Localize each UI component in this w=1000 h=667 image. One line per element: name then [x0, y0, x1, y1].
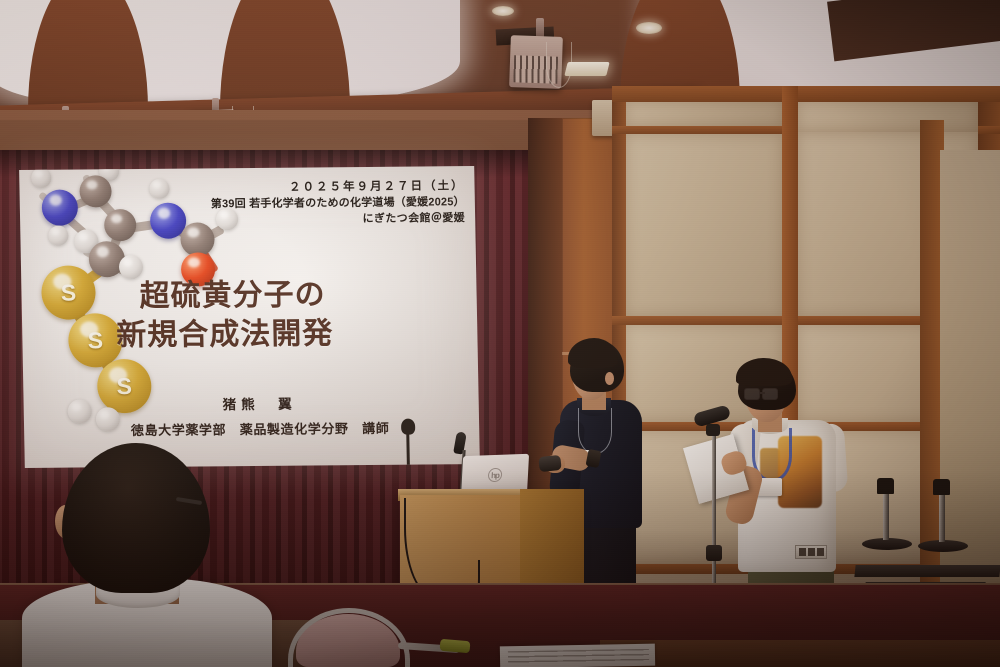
slide-date: ２０２５年９月２７日（土）: [210, 178, 464, 197]
ceiling-arch-rib: [28, 0, 148, 110]
slide-speaker-name: 猪熊 翼: [109, 392, 409, 415]
chair-green-accessory: [440, 639, 471, 654]
atom-hydrogen: [31, 168, 51, 188]
ceiling-downlight: [492, 6, 514, 16]
chairperson-glasses-bridge: [760, 392, 765, 394]
document-text-lines: [508, 649, 649, 665]
foreground-document: [500, 644, 655, 667]
chairperson-glasses-lens-left: [744, 388, 760, 400]
chairperson-glasses-lens-right: [762, 388, 778, 400]
ceiling-strip-light: [564, 62, 609, 76]
atom-hydrogen: [119, 255, 143, 279]
slide-speaker-block: 猪熊 翼 徳島大学薬学部 薬品製造化学分野 講師: [109, 392, 410, 440]
atom-hydrogen: [48, 226, 68, 246]
spare-stand-shaft: [939, 494, 945, 542]
slide-title-line2: 新規合成法開発: [116, 314, 334, 355]
atom-nitrogen: [42, 190, 79, 226]
microphone-silhouette-icon: [397, 419, 420, 467]
slide-venue: にぎたつ会館＠愛媛: [211, 211, 465, 229]
shoji-top-rail: [612, 86, 1000, 102]
atom-sulfur-1: S: [41, 265, 96, 319]
ceiling-downlight: [636, 22, 662, 34]
slide-title-line1: 超硫黄分子の: [139, 275, 333, 316]
spare-stand-clip-icon: [933, 479, 950, 495]
microphone-stand-collar[interactable]: [706, 545, 722, 561]
presenter-remote-clicker[interactable]: [538, 455, 561, 472]
hp-logo-icon: hp: [488, 468, 503, 483]
slide-speaker-affiliation: 徳島大学薬学部 薬品製造化学分野 講師: [110, 418, 410, 440]
presenter-lanyard: [578, 408, 612, 454]
shoji-pane: [798, 102, 978, 132]
atom-sulfur-2: S: [68, 313, 123, 367]
equipment-table-top: [854, 565, 1000, 577]
shoji-pane: [626, 134, 782, 316]
slide-title: 超硫黄分子の 新規合成法開発: [139, 275, 334, 355]
presenter-ear: [605, 372, 614, 385]
presentation-photo-scene: S S S ２０２５年９月２７日（土） 第39回 若手化学者のための化学道場（愛…: [0, 0, 1000, 667]
spare-stand-clip-icon: [877, 478, 894, 494]
slide-conference-name: 第39回 若手化学者のための化学道場（愛媛2025）: [211, 195, 465, 213]
spotlight-arm: [536, 18, 544, 38]
slide-header: ２０２５年９月２７日（土） 第39回 若手化学者のための化学道場（愛媛2025）…: [210, 178, 465, 229]
atom-carbon: [79, 175, 112, 207]
atom-hydrogen: [149, 179, 169, 199]
foreground-table: [600, 640, 1000, 667]
chairperson-shirt-print-tag: [795, 545, 827, 559]
shoji-pane: [626, 102, 782, 126]
ceiling-arch-rib: [220, 0, 350, 110]
microphone-clip: [706, 424, 720, 436]
atom-carbon: [104, 209, 137, 241]
projection-screen: S S S ２０２５年９月２７日（土） 第39回 若手化学者のための化学道場（愛…: [19, 166, 480, 468]
atom-hydrogen: [68, 399, 92, 423]
spare-stand-shaft: [883, 492, 889, 540]
